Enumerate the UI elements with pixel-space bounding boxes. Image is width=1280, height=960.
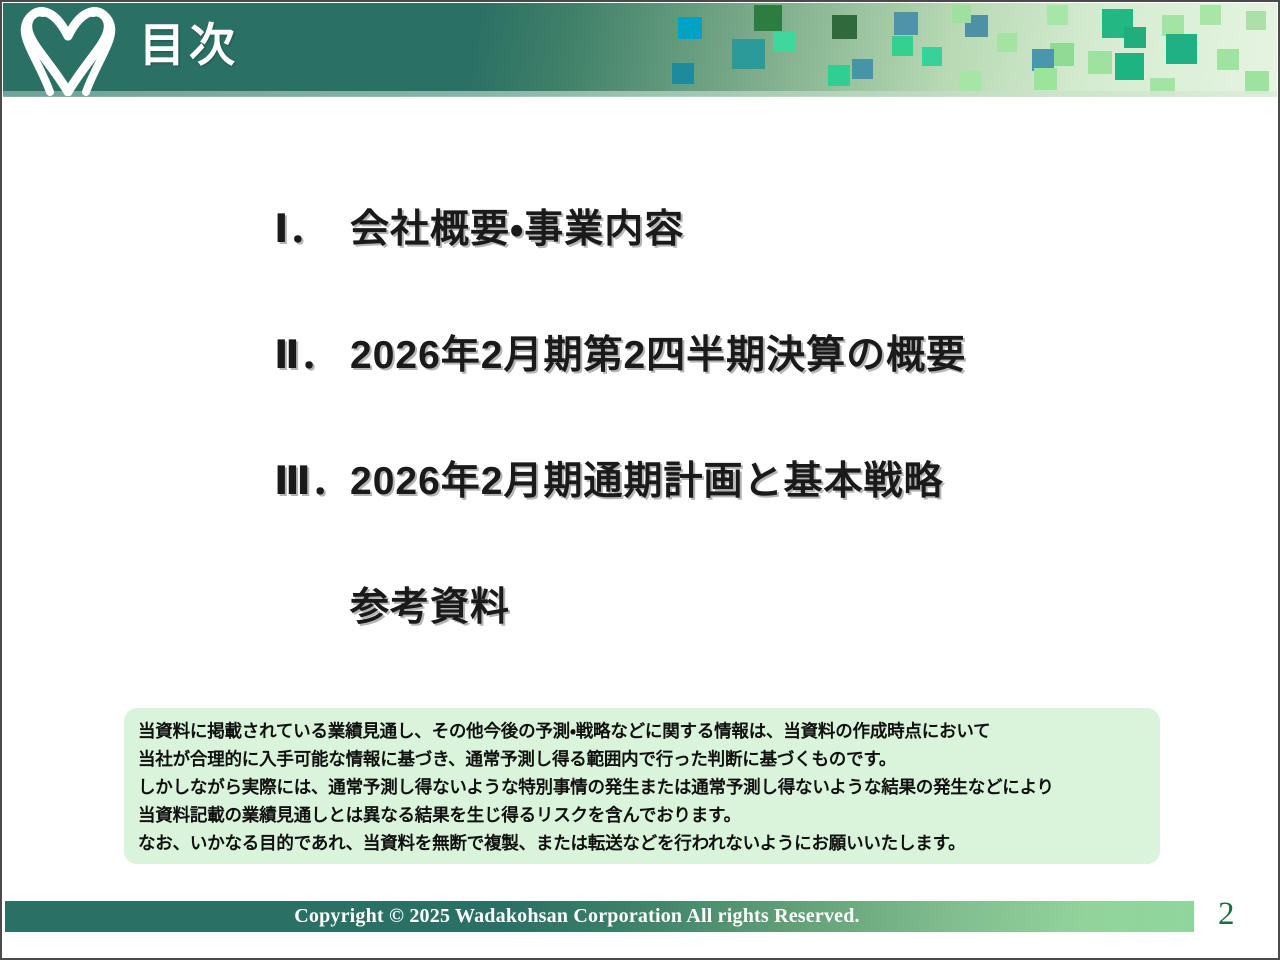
mosaic-tile bbox=[754, 5, 782, 31]
toc-item-4-label: 参考資料 bbox=[350, 576, 510, 632]
table-of-contents-list: Ⅰ． 会社概要・事業内容 Ⅱ． 2026年2月期第2四半期決算の概要 Ⅲ． 20… bbox=[2, 198, 1280, 702]
mosaic-tile bbox=[832, 15, 857, 39]
mosaic-tile bbox=[1102, 9, 1133, 38]
mosaic-tile bbox=[892, 36, 913, 56]
mosaic-tile bbox=[894, 12, 918, 35]
mosaic-tile bbox=[732, 39, 765, 69]
mosaic-tile bbox=[1032, 49, 1054, 71]
toc-item-2-label: 2026年2月期第2四半期決算の概要 bbox=[350, 324, 966, 380]
disclaimer-line-5: なお、いかなる目的であれ、当資料を無断で複製、または転送などを行われないようにお… bbox=[138, 829, 1146, 857]
slide: 目次 Ⅰ． 会社概要・事業内容 Ⅱ． 2026年2月期第2四半期決算の概要 Ⅲ．… bbox=[0, 0, 1280, 960]
toc-item-3[interactable]: Ⅲ． 2026年2月期通期計画と基本戦略 bbox=[2, 450, 1280, 576]
mosaic-tile bbox=[828, 65, 850, 86]
mosaic-tile bbox=[997, 33, 1017, 52]
toc-item-3-label: 2026年2月期通期計画と基本戦略 bbox=[350, 450, 943, 506]
mosaic-tile bbox=[1162, 15, 1184, 36]
mosaic-tile bbox=[678, 17, 702, 39]
toc-item-4[interactable]: 参考資料 bbox=[2, 576, 1280, 702]
mosaic-tile bbox=[1200, 5, 1221, 25]
toc-item-2-number: Ⅱ． bbox=[274, 324, 350, 380]
toc-item-1-label: 会社概要・事業内容 bbox=[350, 198, 684, 254]
toc-item-3-number: Ⅲ． bbox=[274, 450, 350, 506]
header-underline bbox=[3, 91, 1277, 97]
disclaimer-box: 当資料に掲載されている業績見通し、その他今後の予測・戦略などに関する情報は、当資… bbox=[124, 708, 1160, 864]
mosaic-tile bbox=[1115, 53, 1144, 80]
mosaic-tile bbox=[1166, 34, 1197, 64]
disclaimer-line-1: 当資料に掲載されている業績見通し、その他今後の予測・戦略などに関する情報は、当資… bbox=[138, 717, 1146, 745]
page-number: 2 bbox=[1218, 896, 1258, 933]
mosaic-tile bbox=[1124, 27, 1146, 48]
toc-item-1[interactable]: Ⅰ． 会社概要・事業内容 bbox=[2, 198, 1280, 324]
toc-item-2[interactable]: Ⅱ． 2026年2月期第2四半期決算の概要 bbox=[2, 324, 1280, 450]
page-title: 目次 bbox=[139, 18, 239, 73]
mosaic-tile bbox=[952, 5, 971, 23]
mosaic-tile bbox=[1246, 11, 1266, 30]
mosaic-tile bbox=[1047, 5, 1068, 25]
mosaic-tile bbox=[1088, 51, 1112, 74]
mosaic-tile bbox=[959, 71, 981, 92]
disclaimer-line-4: 当資料記載の業績見通しとは異なる結果を生じ得るリスクを含んでおります。 bbox=[138, 801, 1146, 829]
disclaimer-line-2: 当社が合理的に入手可能な情報に基づき、通常予測し得る範囲内で行った判断に基づくも… bbox=[138, 745, 1146, 773]
mosaic-tile bbox=[852, 59, 873, 79]
copyright-text: Copyright © 2025 Wadakohsan Corporation … bbox=[5, 901, 1194, 932]
disclaimer-line-3: しかしながら実際には、通常予測し得ないような特別事情の発生または通常予測し得ない… bbox=[138, 773, 1146, 801]
mosaic-tile bbox=[773, 32, 795, 52]
footer-bar: Copyright © 2025 Wadakohsan Corporation … bbox=[5, 901, 1194, 932]
mosaic-tile bbox=[1034, 68, 1057, 90]
mosaic-tile bbox=[1050, 43, 1074, 66]
mosaic-tile bbox=[965, 15, 988, 37]
toc-item-1-number: Ⅰ． bbox=[274, 198, 350, 254]
mosaic-tile bbox=[1217, 49, 1239, 70]
mosaic-tile bbox=[922, 47, 942, 66]
wadakohsan-double-heart-w-logo-icon bbox=[20, 6, 116, 96]
mosaic-tile bbox=[672, 63, 694, 84]
